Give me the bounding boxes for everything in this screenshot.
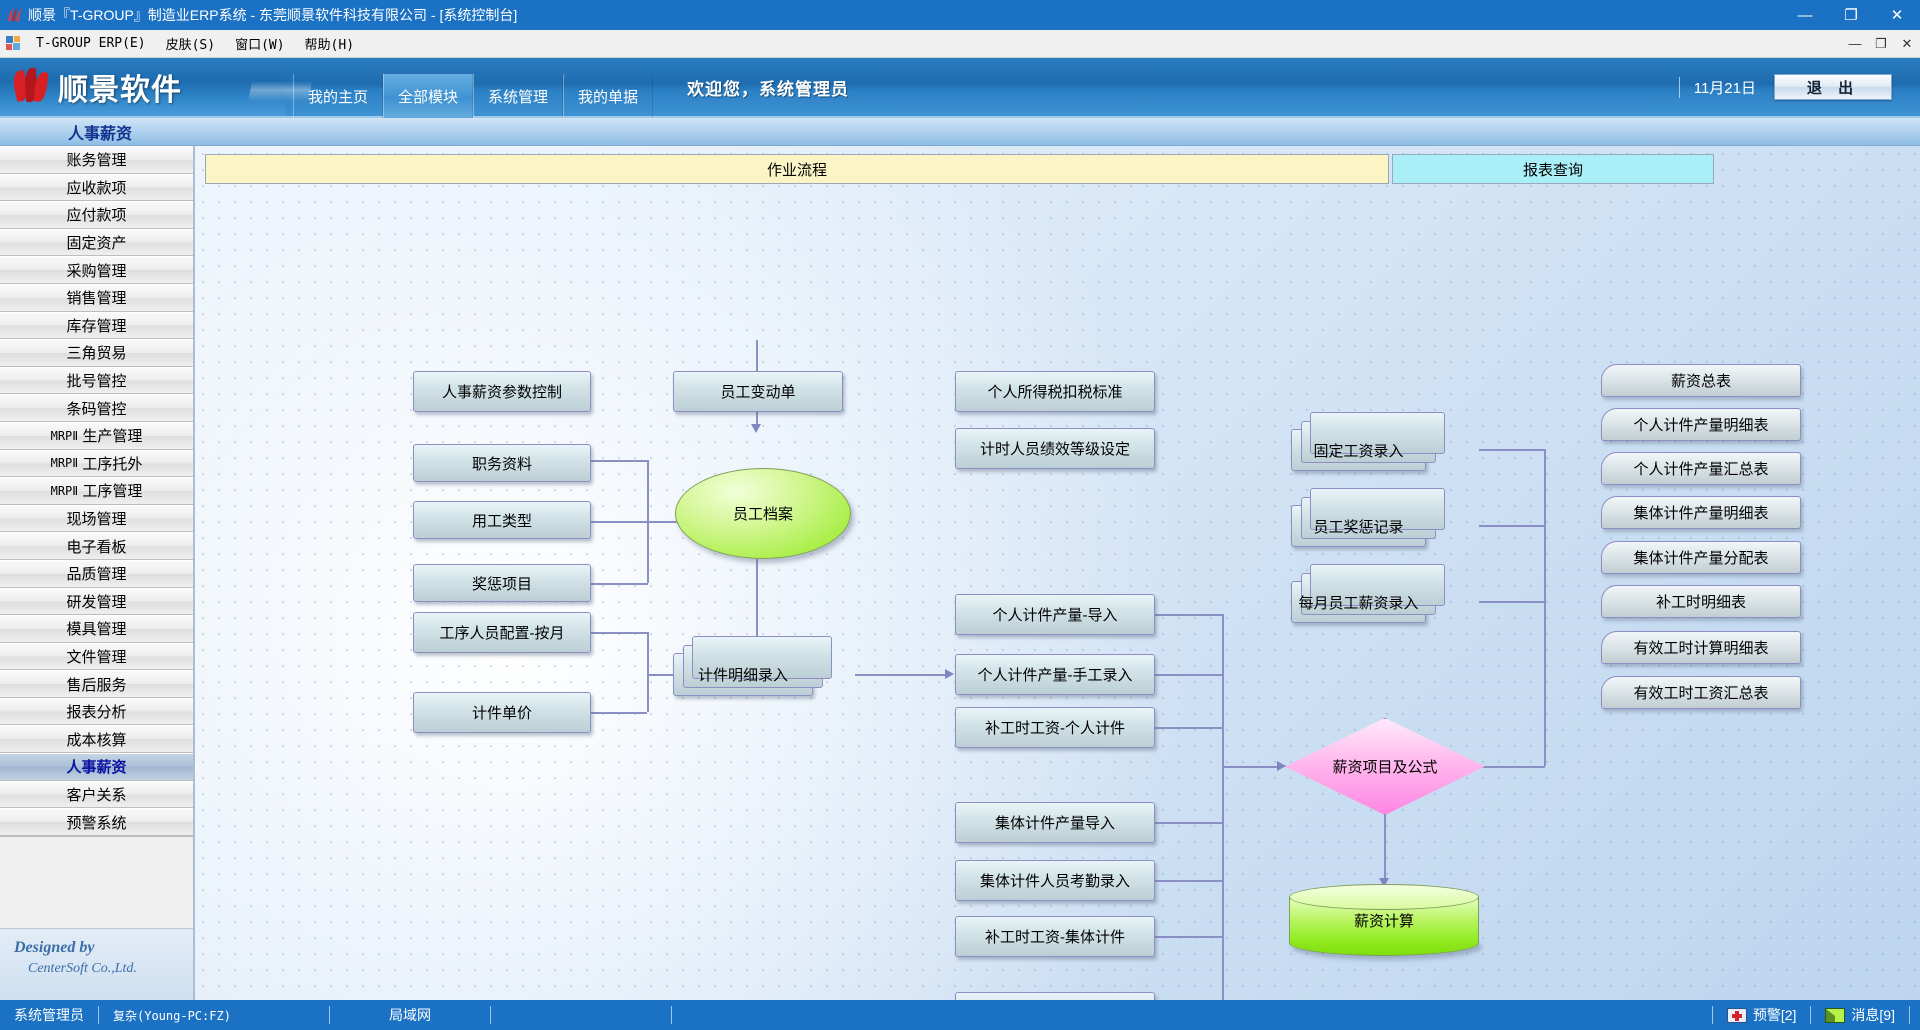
sidebar-footer: Designed by CenterSoft Co.,Ltd. [0, 928, 193, 1000]
report-group-piece-detail[interactable]: 集体计件产量明细表 [1601, 496, 1801, 529]
window-titlebar: 顺景『T-GROUP』制造业ERP系统 - 东莞顺景软件科技有限公司 - [系统… [0, 0, 1920, 30]
sidebar-item-payables[interactable]: 应付款项 [0, 201, 193, 229]
sidebar-item-quality[interactable]: 品质管理 [0, 560, 193, 588]
report-effective-hours-detail[interactable]: 有效工时计算明细表 [1601, 631, 1801, 664]
status-database: 复杂(Young-PC:FZ) [99, 1005, 329, 1025]
mdi-window-controls: — ❐ ✕ [1842, 36, 1920, 52]
connector-job-down [647, 460, 649, 522]
connector-c4-r1 [1479, 449, 1545, 451]
sidebar-item-mold[interactable]: 模具管理 [0, 615, 193, 643]
connector-c4-r3 [1479, 601, 1545, 603]
status-alert-button[interactable]: 预警[2] [1713, 1005, 1811, 1025]
node-income-tax-standard[interactable]: 个人所得税扣税标准 [955, 371, 1155, 412]
node-makeup-hours-personal[interactable]: 补工时工资-个人计件 [955, 707, 1155, 748]
sidebar-item-lot-control[interactable]: 批号管控 [0, 367, 193, 395]
connector-job-right [583, 460, 648, 462]
node-piece-detail-entry[interactable]: 计件明细录入 [673, 653, 813, 696]
mdi-close-button[interactable]: ✕ [1894, 36, 1920, 52]
sidebar-item-alert-system[interactable]: 预警系统 [0, 808, 193, 836]
connector-reward-right [583, 583, 648, 585]
sidebar-item-barcode-control[interactable]: 条码管控 [0, 394, 193, 422]
company-logo-icon [14, 67, 52, 107]
connector-c3-r5 [1155, 880, 1223, 882]
status-blank-2 [672, 1005, 752, 1025]
sidebar-item-fixed-assets[interactable]: 固定资产 [0, 229, 193, 257]
tab-work-flow[interactable]: 作业流程 [205, 154, 1389, 184]
status-message-label: 消息[9] [1851, 1005, 1895, 1025]
tab-all-modules[interactable]: 全部模块 [383, 74, 473, 118]
status-right-group: 预警[2] 消息[9] [1712, 1005, 1920, 1025]
node-process-staffing-monthly[interactable]: 工序人员配置-按月 [413, 612, 591, 653]
node-personal-piece-manual[interactable]: 个人计件产量-手工录入 [955, 654, 1155, 695]
report-effective-hours-salary-summary[interactable]: 有效工时工资汇总表 [1601, 676, 1801, 709]
sidebar-item-shopfloor[interactable]: 现场管理 [0, 505, 193, 533]
connector-c4-bus [1544, 449, 1546, 766]
sidebar-item-mrp2-production[interactable]: MRPⅡ 生产管理 [0, 422, 193, 450]
mdi-restore-button[interactable]: ❐ [1868, 36, 1894, 52]
sidebar-item-cost-accounting[interactable]: 成本核算 [0, 725, 193, 753]
report-salary-summary[interactable]: 薪资总表 [1601, 364, 1801, 397]
node-monthly-salary-entry[interactable]: 每月员工薪资录入 [1291, 581, 1426, 623]
connector-bus-to-diamond [1222, 766, 1282, 768]
node-group-piece-attendance[interactable]: 集体计件人员考勤录入 [955, 860, 1155, 901]
sidebar-item-sales[interactable]: 销售管理 [0, 284, 193, 312]
arrow-change-to-file [751, 424, 761, 433]
node-job-data[interactable]: 职务资料 [413, 444, 591, 482]
status-separator-7 [1909, 1006, 1910, 1024]
tab-report-query[interactable]: 报表查询 [1392, 154, 1714, 184]
status-blank-1 [491, 1005, 671, 1025]
node-personal-piece-import[interactable]: 个人计件产量-导入 [955, 594, 1155, 635]
tab-my-documents[interactable]: 我的单据 [563, 74, 653, 118]
connector-piece-to-manual [855, 674, 950, 676]
connector-reward-up [647, 521, 649, 583]
status-network: 局域网 [330, 1005, 490, 1025]
node-makeup-hours-group[interactable]: 补工时工资-集体计件 [955, 916, 1155, 957]
sidebar-item-eboard[interactable]: 电子看板 [0, 532, 193, 560]
designed-by-label: Designed by [14, 939, 193, 957]
menu-item-skin[interactable]: 皮肤(S) [156, 31, 225, 56]
sidebar-item-purchasing[interactable]: 采购管理 [0, 256, 193, 284]
node-group-piece-import[interactable]: 集体计件产量导入 [955, 802, 1155, 843]
node-employee-reward-record[interactable]: 员工奖惩记录 [1291, 505, 1426, 547]
status-user: 系统管理员 [0, 1005, 98, 1025]
menu-item-window[interactable]: 窗口(W) [225, 31, 294, 56]
sidebar-item-receivables[interactable]: 应收款项 [0, 174, 193, 202]
sidebar-item-crm[interactable]: 客户关系 [0, 781, 193, 809]
brand-name: 顺景软件 [58, 65, 182, 109]
connector-c3-bus [1222, 614, 1224, 1000]
page-title: 人事薪资 [0, 120, 200, 144]
arrow-piece-to-manual [945, 669, 954, 679]
sidebar-item-mrp2-process[interactable]: MRPⅡ 工序管理 [0, 477, 193, 505]
flow-canvas: 作业流程 报表查询 [195, 146, 1920, 1000]
sidebar-filler [0, 836, 193, 928]
close-button[interactable]: ✕ [1874, 0, 1920, 30]
mdi-minimize-button[interactable]: — [1842, 36, 1868, 52]
connector-diamond-to-calc [1384, 815, 1386, 881]
node-reward-penalty-item[interactable]: 奖惩项目 [413, 564, 591, 602]
header-right-group: 11月21日 退 出 [1679, 58, 1920, 116]
sidebar-item-inventory[interactable]: 库存管理 [0, 312, 193, 340]
status-message-button[interactable]: 消息[9] [1811, 1005, 1909, 1025]
welcome-message: 欢迎您，系统管理员 [653, 58, 849, 116]
page-title-strip: 人事薪资 [0, 118, 1920, 146]
report-makeup-hours-detail[interactable]: 补工时明细表 [1601, 585, 1801, 618]
alert-icon [1727, 1008, 1747, 1023]
sidebar-item-rnd[interactable]: 研发管理 [0, 588, 193, 616]
sidebar-item-report-analysis[interactable]: 报表分析 [0, 698, 193, 726]
node-employee-file[interactable]: 员工档案 [675, 468, 851, 559]
tab-system-admin[interactable]: 系统管理 [473, 74, 563, 118]
menubar: T-GROUP ERP(E) 皮肤(S) 窗口(W) 帮助(H) — ❐ ✕ [0, 30, 1920, 58]
canvas-tabbar: 作业流程 报表查询 [205, 154, 1906, 184]
cylinder-label: 薪资计算 [1289, 884, 1479, 956]
connector-c3-r4 [1155, 822, 1223, 824]
connector-proc-right [583, 632, 647, 634]
module-sidebar: 账务管理 应收款项 应付款项 固定资产 采购管理 销售管理 库存管理 三角贸易 … [0, 146, 195, 1000]
app-header: 顺景软件 我的主页 全部模块 系统管理 我的单据 欢迎您，系统管理员 11月21… [0, 58, 1920, 118]
node-piece-unit-price[interactable]: 计件单价 [413, 692, 591, 733]
connector-price-right [583, 712, 647, 714]
menu-item-help[interactable]: 帮助(H) [295, 31, 364, 56]
sidebar-item-hr-payroll[interactable]: 人事薪资 [0, 753, 193, 781]
window-title: 顺景『T-GROUP』制造业ERP系统 - 东莞顺景软件科技有限公司 - [系统… [28, 5, 1782, 25]
sidebar-item-document[interactable]: 文件管理 [0, 643, 193, 671]
sidebar-item-mrp2-outsourcing[interactable]: MRPⅡ 工序托外 [0, 450, 193, 478]
brand-block: 顺景软件 [0, 58, 285, 116]
node-salary-calculation[interactable]: 薪资计算 [1289, 884, 1479, 956]
node-payroll-params[interactable]: 人事薪资参数控制 [413, 371, 591, 412]
node-hourly-attendance-entry[interactable]: 计时人员考勤录入 [955, 992, 1155, 1000]
window-controls: — ❐ ✕ [1782, 0, 1920, 30]
connector-c4-r2 [1479, 525, 1545, 527]
diamond-label: 薪资项目及公式 [1285, 718, 1485, 815]
mdi-app-icon [0, 36, 26, 51]
node-salary-items-formula[interactable]: 薪资项目及公式 [1285, 718, 1485, 815]
connector-price-up [647, 674, 649, 712]
body-wrapper: 账务管理 应收款项 应付款项 固定资产 采购管理 销售管理 库存管理 三角贸易 … [0, 146, 1920, 1000]
header-date: 11月21日 [1679, 77, 1756, 98]
menu-item-erp[interactable]: T-GROUP ERP(E) [26, 33, 156, 54]
report-group-piece-allocation[interactable]: 集体计件产量分配表 [1601, 541, 1801, 574]
header-nav-tabs: 我的主页 全部模块 系统管理 我的单据 [293, 58, 653, 118]
vendor-name-label: CenterSoft Co.,Ltd. [14, 961, 193, 977]
connector-c3-r3 [1155, 727, 1223, 729]
app-logo-icon [0, 7, 28, 24]
statusbar: 系统管理员 复杂(Young-PC:FZ) 局域网 预警[2] 消息[9] [0, 1000, 1920, 1030]
connector-c3-r6 [1155, 936, 1223, 938]
sidebar-item-triangular-trade[interactable]: 三角贸易 [0, 339, 193, 367]
mail-icon [1825, 1008, 1845, 1023]
connector-c3-r1 [1155, 614, 1223, 616]
sidebar-item-accounting[interactable]: 账务管理 [0, 146, 193, 174]
node-employee-change-form[interactable]: 员工变动单 [673, 371, 843, 412]
report-personal-piece-summary[interactable]: 个人计件产量汇总表 [1601, 452, 1801, 485]
minimize-button[interactable]: — [1782, 0, 1828, 30]
node-fixed-salary-entry[interactable]: 固定工资录入 [1291, 429, 1426, 471]
sidebar-item-after-sales[interactable]: 售后服务 [0, 670, 193, 698]
node-employment-type[interactable]: 用工类型 [413, 501, 591, 539]
connector-proc-down [647, 632, 649, 674]
node-hourly-perf-grade[interactable]: 计时人员绩效等级设定 [955, 428, 1155, 469]
maximize-button[interactable]: ❐ [1828, 0, 1874, 30]
connector-c3-r2 [1155, 674, 1223, 676]
status-alert-label: 预警[2] [1753, 1005, 1797, 1025]
report-personal-piece-detail[interactable]: 个人计件产量明细表 [1601, 408, 1801, 441]
logout-button[interactable]: 退 出 [1774, 74, 1892, 100]
